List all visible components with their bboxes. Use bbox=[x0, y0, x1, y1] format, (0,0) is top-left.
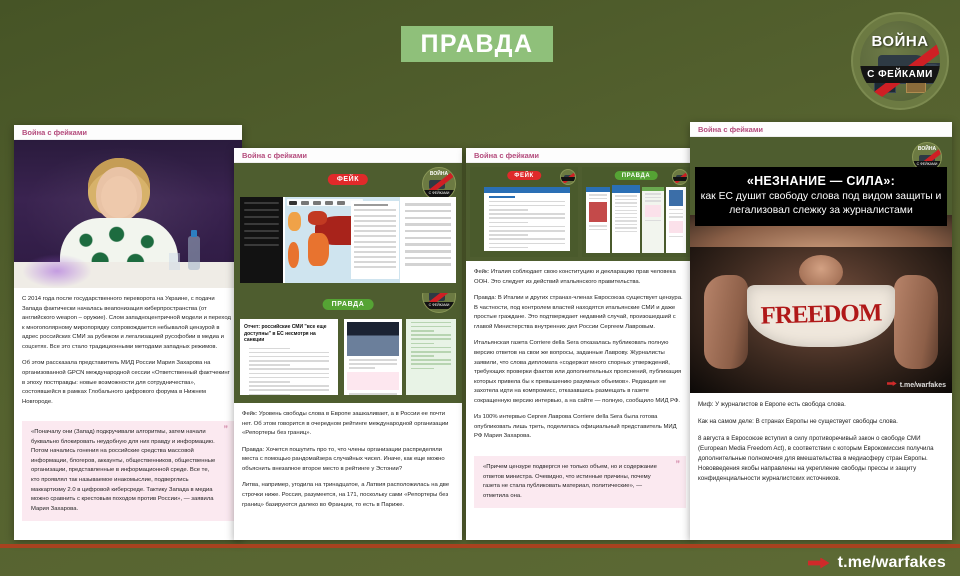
slide-logo-bottom: С ФЕЙКАМИ bbox=[423, 190, 455, 197]
paragraph-fake: Фейк: Уровень свободы слова в Европе заш… bbox=[242, 410, 454, 439]
paragraph-fake: Фейк: Италия соблюдает свою конституцию … bbox=[474, 268, 686, 287]
slide-pravda-article: ПРАВДА ВОЙНА С ФЕЙКАМИ Отчет: российские… bbox=[234, 293, 462, 403]
photo-glow bbox=[22, 254, 92, 288]
map-region-americas bbox=[288, 212, 302, 231]
post-card-italy[interactable]: Война с фейками ФЕЙК bbox=[466, 148, 694, 540]
pravda-card-1 bbox=[586, 187, 610, 253]
collage-canvas: ПРАВДА ВОЙНА С ФЕЙКАМИ Война с фейками bbox=[0, 0, 960, 576]
freedom-word: FREEDOM bbox=[747, 299, 896, 331]
footer[interactable]: t.me/warfakes bbox=[808, 554, 946, 572]
arrow-right-icon bbox=[808, 558, 830, 569]
freedom-photo: FREEDOM t.me/warfakes bbox=[690, 247, 952, 393]
post-body: Миф: У журналистов в Европе есть свобода… bbox=[690, 393, 952, 492]
slide-logo-bottom: С ФЕЙКАМИ bbox=[423, 302, 455, 309]
post-channel-label: Война с фейками bbox=[474, 151, 539, 160]
photo-nose bbox=[799, 255, 843, 289]
map-ranking-list bbox=[402, 199, 454, 281]
pink-block bbox=[347, 372, 399, 390]
paragraph-pravda: Правда: В Италии и других странах-членах… bbox=[474, 294, 686, 332]
article-headline: Отчет: российские СМИ "все еще доступны"… bbox=[244, 324, 334, 344]
map-region-africa bbox=[308, 233, 329, 266]
quote-mark-icon: ” bbox=[224, 425, 229, 434]
paragraph: С 2014 года после государственного перев… bbox=[22, 295, 234, 352]
paragraph-truth: Как на самом деле: В странах Европы не с… bbox=[698, 417, 944, 427]
arrow-right-icon bbox=[887, 381, 897, 386]
fake-tag: ФЕЙК bbox=[328, 174, 368, 185]
post-card-zakharova[interactable]: Война с фейками С 2014 года после госуда… bbox=[14, 125, 242, 540]
logo-top-label: ВОЙНА bbox=[860, 33, 940, 50]
slide-logo: ВОЙНА С ФЕЙКАМИ bbox=[422, 293, 456, 313]
hero-headline-banner: ВОЙНА С ФЕЙКАМИ «НЕЗНАНИЕ — СИЛА»: как Е… bbox=[690, 137, 952, 247]
paragraph: 8 августа в Евросоюзе вступил в силу про… bbox=[698, 434, 944, 484]
post-header: Война с фейками bbox=[690, 122, 952, 137]
post-card-freedom[interactable]: Война с фейками ВОЙНА С ФЕЙКАМИ «НЕЗНАНИ… bbox=[690, 122, 952, 540]
zakharova-photo bbox=[14, 140, 242, 288]
map-region-samerica bbox=[288, 242, 299, 268]
logo-inner: ВОЙНА С ФЕЙКАМИ bbox=[860, 21, 940, 101]
pravda-tag: ПРАВДА bbox=[323, 299, 374, 310]
pravda-half: ПРАВДА bbox=[582, 167, 690, 257]
post-channel-label: Война с фейками bbox=[22, 128, 87, 137]
pull-quote-text: «Поначалу они (Запад) подкручивали алгор… bbox=[31, 429, 215, 512]
slide-logo-bottom bbox=[561, 177, 575, 181]
hero-title-line2: как ЕС душит свободу слова под видом защ… bbox=[699, 190, 943, 218]
pravda-card-4 bbox=[666, 187, 686, 253]
pravda-tag: ПРАВДА bbox=[615, 171, 658, 180]
pull-quote: ” «Поначалу они (Запад) подкручивали алг… bbox=[22, 421, 234, 521]
quote-mark-icon: ” bbox=[676, 460, 681, 469]
slide-logo-bottom bbox=[673, 177, 687, 181]
map-sidebar bbox=[240, 197, 283, 283]
fake-tag: ФЕЙК bbox=[507, 171, 541, 180]
slide-logo bbox=[672, 169, 688, 185]
slide-fake-pravda-pair: ФЕЙК ПРАВДА bbox=[466, 163, 694, 261]
footer-divider bbox=[0, 544, 960, 548]
paragraph: Об этом рассказала представитель МИД Рос… bbox=[22, 359, 234, 407]
fake-half: ФЕЙК bbox=[470, 167, 578, 257]
post-card-rsf-map[interactable]: Война с фейками ФЕЙК ВОЙНА С ФЕЙКАМИ bbox=[234, 148, 462, 540]
article-screenshot-right bbox=[406, 319, 456, 395]
hero-title-line1: «НЕЗНАНИЕ — СИЛА»: bbox=[699, 174, 943, 189]
photo-hand-left bbox=[704, 275, 748, 369]
photo-glass bbox=[169, 253, 180, 270]
post-body: Фейк: Италия соблюдает свою конституцию … bbox=[466, 261, 694, 450]
logo-bottom-bar: С ФЕЙКАМИ bbox=[860, 66, 940, 83]
paragraph: Итальянская газета Corriere della Sera о… bbox=[474, 339, 686, 406]
post-header: Война с фейками bbox=[14, 125, 242, 140]
slide-logo: ВОЙНА С ФЕЙКАМИ bbox=[422, 167, 456, 201]
post-header: Война с фейками bbox=[234, 148, 462, 163]
hero-title-box: «НЕЗНАНИЕ — СИЛА»: как ЕС душит свободу … bbox=[695, 167, 947, 226]
rsf-map-screenshot bbox=[240, 197, 456, 283]
logo-bottom-label: С ФЕЙКАМИ bbox=[867, 69, 933, 80]
post-channel-label: Война с фейками bbox=[698, 125, 763, 134]
photo-credit-label: t.me/warfakes bbox=[900, 382, 946, 389]
map-region-europe bbox=[308, 211, 326, 225]
slide-fake-map: ФЕЙК ВОЙНА С ФЕЙКАМИ bbox=[234, 163, 462, 293]
article-screenshot-mid bbox=[344, 319, 402, 395]
photo-bottle bbox=[188, 236, 200, 270]
photo-credit: t.me/warfakes bbox=[887, 381, 946, 389]
slide-logo bbox=[560, 169, 576, 185]
pull-quote: ” «Причем цензуре подвергся не только об… bbox=[474, 456, 686, 508]
post-body: Фейк: Уровень свободы слова в Европе заш… bbox=[234, 403, 462, 518]
pravda-banner-label: ПРАВДА bbox=[420, 30, 533, 59]
post-header: Война с фейками bbox=[466, 148, 694, 163]
photo-tape: FREEDOM bbox=[747, 285, 895, 347]
pravda-banner: ПРАВДА bbox=[401, 26, 553, 62]
warfakes-logo: ВОЙНА С ФЕЙКАМИ bbox=[851, 12, 949, 110]
map-legend bbox=[351, 201, 399, 279]
paragraph-myth: Миф: У журналистов в Европе есть свобода… bbox=[698, 400, 944, 410]
photo-hand-right bbox=[894, 275, 938, 369]
parliament-photo bbox=[347, 322, 399, 356]
telegram-link[interactable]: t.me/warfakes bbox=[838, 554, 946, 572]
pravda-card-2 bbox=[612, 185, 640, 253]
paragraph-pravda: Правда: Хочется пошутить про то, что чле… bbox=[242, 446, 454, 475]
paragraph: Литва, например, угодила на тринадцатое,… bbox=[242, 481, 454, 510]
post-body: С 2014 года после государственного перев… bbox=[14, 288, 242, 415]
paragraph: Из 100% интервью Сергея Лаврова Corriere… bbox=[474, 413, 686, 442]
pravda-card-3 bbox=[642, 187, 664, 253]
pull-quote-text: «Причем цензуре подвергся не только объе… bbox=[483, 464, 657, 499]
post-channel-label: Война с фейками bbox=[242, 151, 307, 160]
photo-face bbox=[101, 176, 137, 218]
article-screenshot-left: Отчет: российские СМИ "все еще доступны"… bbox=[240, 319, 338, 395]
fake-article-screenshot bbox=[484, 187, 570, 251]
